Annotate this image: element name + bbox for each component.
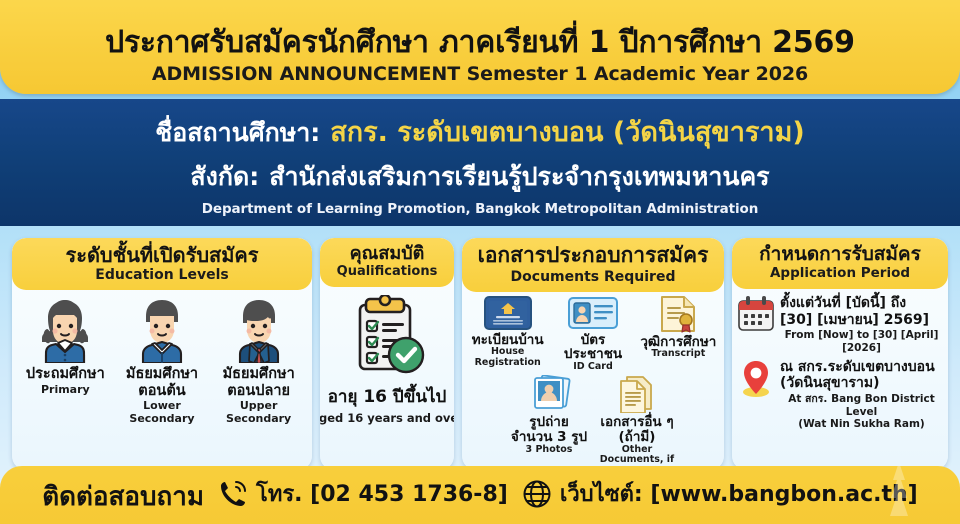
card-application-header: กำหนดการรับสมัคร Application Period [732,238,948,289]
school-row: ชื่อสถานศึกษา: สกร. ระดับเขตบางบอน (วัดน… [155,110,804,153]
card-qualifications-header: คุณสมบัติ Qualifications [320,238,454,287]
institution-band: ชื่อสถานศึกษา: สกร. ระดับเขตบางบอน (วัดน… [0,99,960,226]
page-title-english: ADMISSION ANNOUNCEMENT Semester 1 Academ… [152,63,808,85]
house-registration-icon [483,295,533,331]
education-level-lower-secondary: มัธยมศึกษาตอนต้น Lower Secondary [116,295,208,425]
card-application-title-english: Application Period [736,266,944,282]
document-label-english: House Registration [467,347,548,368]
qualification-age-english: Aged 16 years and over [320,411,454,425]
card-application-title-thai: กำหนดการรับสมัคร [736,244,944,265]
website-contact[interactable]: เว็บไซต์: [www.bangbon.ac.th] [522,476,918,511]
phone-number: โทร. [02 453 1736-8] [256,476,508,511]
student-girl-icon [34,295,96,363]
document-transcript: วุฒิการศึกษา Transcript [638,295,719,373]
application-location-thai: ณ สกร.ระดับเขตบางบอน(วัดนินสุขาราม) [780,359,943,393]
document-label-thai: วุฒิการศึกษา [640,335,716,350]
application-date-block: ตั้งแต่วันที่ [บัดนี้] ถึง[30] [เมษายน] … [737,295,943,355]
department-label: สังกัด: [190,157,259,197]
poster-header: ประกาศรับสมัครนักศึกษา ภาคเรียนที่ 1 ปีก… [0,0,960,94]
card-documents-header: เอกสารประกอบการสมัคร Documents Required [462,238,724,292]
department-name-english: Department of Learning Promotion, Bangko… [202,201,758,217]
school-name: สกร. ระดับเขตบางบอน (วัดนินสุขาราม) [330,110,804,153]
application-location-english: At สกร. Bang Bon District Level(Wat Nin … [780,393,943,431]
card-education-body: ประถมศึกษา Primary [12,290,312,470]
card-documents-required: เอกสารประกอบการสมัคร Documents Required [462,238,724,470]
application-location-block: ณ สกร.ระดับเขตบางบอน(วัดนินสุขาราม) At ส… [737,359,943,431]
calendar-icon [737,295,775,333]
website-url: เว็บไซต์: [www.bangbon.ac.th] [560,476,918,511]
card-qualifications: คุณสมบัติ Qualifications [320,238,454,470]
education-level-label-english: Upper Secondary [213,400,305,425]
education-level-label-thai: มัธยมศึกษาตอนต้น [126,366,198,398]
other-documents-icon [615,375,659,413]
document-house-registration: ทะเบียนบ้าน House Registration [467,295,548,373]
document-label-english: Transcript [651,349,705,360]
education-level-label-thai: มัธยมศึกษาตอนปลาย [223,366,295,398]
phone-contact[interactable]: โทร. [02 453 1736-8] [218,476,508,511]
page-title-thai: ประกาศรับสมัครนักศึกษา ภาคเรียนที่ 1 ปีก… [105,26,855,60]
phone-ring-icon [218,479,248,509]
qualification-age-thai: อายุ 16 ปีขึ้นไป [328,383,447,410]
document-other: เอกสารอื่น ๆ(ถ้ามี) Other Documents, if … [595,375,679,470]
card-education-title-english: Education Levels [16,267,308,283]
contact-label: ติดต่อสอบถาม [42,476,204,517]
application-date-english: From [Now] to [30] [April][2026] [780,329,943,354]
card-qualifications-title-thai: คุณสมบัติ [324,244,450,264]
education-level-primary: ประถมศึกษา Primary [19,295,111,396]
education-level-upper-secondary: มัธยมศึกษาตอนปลาย Upper Secondary [213,295,305,425]
card-documents-body: ทะเบียนบ้าน House Registration [462,292,724,470]
admission-poster: ประกาศรับสมัครนักศึกษา ภาคเรียนที่ 1 ปีก… [0,0,960,524]
education-level-label-english: Lower Secondary [116,400,208,425]
document-label-english: ID Card [573,362,613,373]
card-documents-title-thai: เอกสารประกอบการสมัคร [466,244,720,268]
card-application-period: กำหนดการรับสมัคร Application Period [732,238,948,470]
department-row: สังกัด: สำนักส่งเสริมการเรียนรู้ประจำกรุ… [190,157,769,197]
location-pin-icon [737,359,775,399]
document-label-english: 3 Photos [526,445,573,456]
poster-footer: ติดต่อสอบถาม โทร. [02 453 1736-8] เว็บไซ… [0,466,960,524]
student-suit-icon [228,295,290,363]
checklist-clipboard-icon [348,295,426,377]
id-card-icon [567,295,619,331]
student-boy-icon [131,295,193,363]
education-level-label-thai: ประถมศึกษา [26,366,105,382]
globe-icon [522,479,552,509]
application-date-thai: ตั้งแต่วันที่ [บัดนี้] ถึง[30] [เมษายน] … [780,295,943,329]
card-education-title-thai: ระดับชั้นที่เปิดรับสมัคร [16,244,308,266]
document-label-thai: ทะเบียนบ้าน [472,333,544,348]
document-photos: รูปถ่ายจำนวน 3 รูป 3 Photos [507,375,591,470]
card-application-body: ตั้งแต่วันที่ [บัดนี้] ถึง[30] [เมษายน] … [732,289,948,470]
card-qualifications-title-english: Qualifications [324,265,450,280]
transcript-icon [657,295,699,333]
photos-icon [526,375,572,413]
education-level-label-english: Primary [41,384,90,397]
card-documents-title-english: Documents Required [466,269,720,285]
card-qualifications-body: อายุ 16 ปีขึ้นไป Aged 16 years and over [320,287,454,470]
document-label-thai: รูปถ่ายจำนวน 3 รูป [511,415,587,445]
department-name: สำนักส่งเสริมการเรียนรู้ประจำกรุงเทพมหาน… [269,157,769,197]
card-education-header: ระดับชั้นที่เปิดรับสมัคร Education Level… [12,238,312,290]
document-id-card: บัตรประชาชน ID Card [552,295,633,373]
school-label: ชื่อสถานศึกษา: [155,113,320,153]
info-card-row: ระดับชั้นที่เปิดรับสมัคร Education Level… [12,238,948,470]
document-label-thai: บัตรประชาชน [552,333,633,363]
document-label-thai: เอกสารอื่น ๆ(ถ้ามี) [600,415,673,445]
card-education-levels: ระดับชั้นที่เปิดรับสมัคร Education Level… [12,238,312,470]
